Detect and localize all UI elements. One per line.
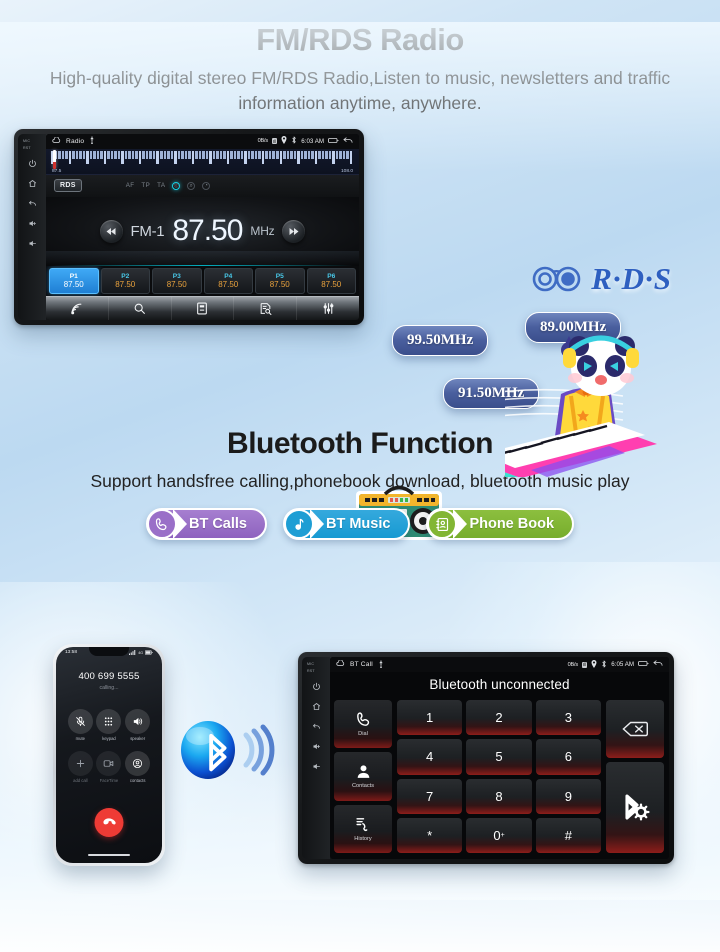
bt-tab-label: Contacts (352, 783, 374, 789)
bt-tab-label: History (354, 836, 371, 842)
frequency-bubble-1: 99.50MHz (392, 325, 488, 356)
signal-icon: Ill (582, 662, 587, 668)
pill-label: Phone Book (469, 516, 554, 532)
phone-screen: 13:58 4G 400 699 5555 calling... mute ke… (56, 647, 162, 863)
frequency-value: 87.50 (172, 214, 242, 248)
bt-tab-history[interactable]: History (334, 805, 392, 853)
reset-label: RST (23, 146, 31, 150)
preset-button[interactable]: P487.50 (204, 268, 254, 294)
reset-label: RST (307, 669, 315, 673)
bt-key-8[interactable]: 8 (466, 779, 531, 814)
preset-frequency: 87.50 (321, 280, 341, 289)
mic-label: MIC (307, 662, 314, 666)
key-label: add call (73, 778, 87, 783)
speaker-button[interactable]: speaker (125, 709, 150, 741)
usb-icon (378, 660, 384, 670)
bt-key-6[interactable]: 6 (536, 739, 601, 774)
preset-name: P6 (327, 273, 335, 280)
equalizer-icon[interactable] (297, 297, 359, 320)
key-label: speaker (130, 736, 145, 741)
contacts-button[interactable]: contacts (125, 751, 150, 783)
speaker-icon (125, 709, 150, 734)
back-icon[interactable] (343, 137, 353, 146)
preset-name: P4 (224, 273, 232, 280)
bt-key-7[interactable]: 7 (397, 779, 462, 814)
home-icon[interactable] (26, 177, 39, 190)
home-indicator (88, 854, 130, 857)
power-icon[interactable] (310, 680, 323, 693)
bt-keypad: 123456789*0+# (397, 700, 601, 853)
stereo-indicator-icon[interactable]: ◎ (172, 182, 180, 190)
ta-flag[interactable]: TA (157, 182, 165, 189)
bt-key-1[interactable]: 1 (397, 700, 462, 735)
clock-icon[interactable]: ◔ (202, 182, 210, 190)
bluetooth-icon (291, 136, 297, 146)
preset-name: P1 (70, 273, 78, 280)
radio-screen: Radio 0B/s Ill 6:03 (46, 134, 359, 320)
cloud-icon (336, 660, 345, 669)
preset-button[interactable]: P687.50 (307, 268, 357, 294)
dial-cursor[interactable] (53, 150, 56, 169)
bt-app-name: BT Call (350, 661, 373, 668)
antenna-icon[interactable] (46, 297, 109, 320)
rds-button[interactable]: RDS (54, 179, 82, 192)
bt-key-5[interactable]: 5 (466, 739, 531, 774)
bt-head-unit: MIC RST (298, 652, 674, 864)
battery-icon (638, 660, 649, 669)
radio-dial[interactable]: 87.5 108.0 (46, 149, 359, 175)
bt-side-rail: MIC RST (302, 657, 330, 859)
band-label[interactable]: FM-1 (131, 223, 165, 240)
bt-key-3[interactable]: 3 (536, 700, 601, 735)
volume-up-icon[interactable] (26, 217, 39, 230)
cellular-icon (129, 650, 136, 655)
preset-button[interactable]: P587.50 (255, 268, 305, 294)
preset-row: P187.50P287.50P387.50P487.50P587.50P687.… (46, 266, 359, 296)
preset-frequency: 87.50 (64, 280, 84, 289)
radio-head-unit: MIC RST (14, 129, 364, 325)
network-speed: 0B/s (568, 662, 578, 668)
usb-icon (89, 136, 95, 146)
phone-number: 400 699 5555 (56, 671, 162, 682)
preset-button[interactable]: P387.50 (152, 268, 202, 294)
back-icon[interactable] (26, 197, 39, 210)
radio-app-name: Radio (66, 138, 84, 145)
rds-logo: R·D·S (530, 261, 672, 297)
volume-down-icon[interactable] (310, 760, 323, 773)
location-icon (591, 660, 597, 670)
volume-down-icon[interactable] (26, 237, 39, 250)
panda-musician-illustration (505, 322, 720, 477)
key-label: keypad (102, 736, 116, 741)
home-icon[interactable] (310, 700, 323, 713)
bt-statusbar: BT Call 0B/s Ill 6:05 AM (330, 657, 669, 672)
dial-min-label: 87.5 (52, 169, 61, 174)
frequency-unit: MHz (250, 224, 274, 238)
scan-list-icon[interactable] (234, 297, 297, 320)
battery-icon (145, 650, 153, 655)
bt-key-0plus[interactable]: 0+ (466, 818, 531, 853)
fm-section-subtitle: High-quality digital stereo FM/RDS Radio… (0, 66, 720, 117)
dial-max-label: 108.0 (341, 169, 353, 174)
fm-visual-block: MIC RST (0, 117, 720, 427)
pill-label: BT Calls (189, 516, 247, 532)
pill-bt-music[interactable]: BT Music (283, 508, 410, 540)
rds-row: RDS AF TP TA ◎ ⌕ ◔ (46, 175, 359, 197)
video-icon (96, 751, 121, 776)
bt-tab-label: Dial (358, 731, 368, 737)
preset-frequency: 87.50 (218, 280, 238, 289)
end-call-button[interactable] (95, 808, 124, 837)
call-history-icon (355, 816, 372, 833)
bt-tab-contacts[interactable]: Contacts (334, 752, 392, 800)
preset-name: P2 (121, 273, 129, 280)
next-station-button[interactable] (282, 220, 305, 243)
preset-button[interactable]: P187.50 (49, 268, 99, 294)
bt-tab-dial[interactable]: Dial (334, 700, 392, 748)
keypad-button[interactable]: keypad (96, 709, 121, 741)
backspace-icon (622, 721, 648, 737)
phone-notch (89, 647, 129, 656)
pill-phone-book[interactable]: Phone Book (426, 508, 574, 540)
bt-key-9[interactable]: 9 (536, 779, 601, 814)
bluetooth-icon (601, 660, 607, 670)
facetime-button[interactable]: FaceTime (96, 751, 121, 783)
preset-frequency: 87.50 (167, 280, 187, 289)
search-icon[interactable] (109, 297, 172, 320)
bt-action-column (606, 700, 664, 853)
bt-key-2[interactable]: 2 (466, 700, 531, 735)
pill-label: BT Music (326, 516, 390, 532)
phone-clock: 13:58 (65, 650, 77, 655)
cloud-icon (52, 137, 61, 146)
key-label: mute (76, 736, 85, 741)
phone-icon (355, 711, 372, 728)
battery-icon (328, 137, 339, 146)
rds-swirl-icon (530, 264, 588, 294)
radio-toolbar (46, 296, 359, 320)
location-icon (281, 136, 287, 146)
call-state-label: calling... (56, 685, 162, 691)
back-icon[interactable] (653, 660, 663, 669)
keypad-icon (96, 709, 121, 734)
bt-tab-column: Dial Contacts History (334, 700, 392, 853)
network-speed: 0B/s (258, 138, 268, 144)
bt-key-star[interactable]: * (397, 818, 462, 853)
preset-name: P3 (173, 273, 181, 280)
preset-name: P5 (276, 273, 284, 280)
af-flag[interactable]: AF (126, 182, 135, 189)
tp-flag[interactable]: TP (141, 182, 150, 189)
bluetooth-settings-button[interactable] (606, 762, 664, 853)
bt-key-hash[interactable]: # (536, 818, 601, 853)
bt-screen: BT Call 0B/s Ill 6:05 AM (330, 657, 669, 859)
bt-key-4[interactable]: 4 (397, 739, 462, 774)
call-controls-grid: mute keypad speaker add call (56, 709, 162, 783)
bluetooth-settings-icon (618, 791, 652, 825)
pill-bt-calls[interactable]: BT Calls (146, 508, 267, 540)
volume-up-icon[interactable] (310, 740, 323, 753)
phone-handset-icon (147, 509, 177, 539)
end-call-icon (102, 815, 117, 830)
bt-connection-status: Bluetooth unconnected (330, 672, 669, 696)
contacts-icon (125, 751, 150, 776)
fm-section-title: FM/RDS Radio (0, 22, 720, 58)
preset-frequency: 87.50 (270, 280, 290, 289)
key-label: FaceTime (100, 778, 118, 783)
feature-pill-row: BT Calls BT Music Phone Book (0, 508, 720, 540)
plus-icon (68, 751, 93, 776)
backspace-button[interactable] (606, 700, 664, 758)
prev-station-button[interactable] (100, 220, 123, 243)
search-icon[interactable]: ⌕ (187, 182, 195, 190)
mic-label: MIC (23, 139, 30, 143)
add-call-button[interactable]: add call (68, 751, 93, 783)
rds-logo-text: R·D·S (591, 261, 672, 297)
signal-icon: Ill (272, 138, 277, 144)
bluetooth-orb-icon (178, 719, 276, 781)
network-label: 4G (138, 651, 143, 655)
music-note-icon (284, 509, 314, 539)
bt-clock: 6:05 AM (611, 661, 634, 668)
frequency-display: FM-1 87.50 MHz (46, 197, 359, 266)
save-icon[interactable] (172, 297, 235, 320)
person-icon (355, 763, 372, 780)
mic-off-icon (68, 709, 93, 734)
back-icon[interactable] (310, 720, 323, 733)
preset-button[interactable]: P287.50 (101, 268, 151, 294)
key-label: contacts (130, 778, 146, 783)
radio-side-rail: MIC RST (18, 134, 46, 320)
preset-frequency: 87.50 (115, 280, 135, 289)
power-icon[interactable] (26, 157, 39, 170)
smartphone-mockup: 13:58 4G 400 699 5555 calling... mute ke… (53, 644, 165, 866)
mute-button[interactable]: mute (68, 709, 93, 741)
radio-statusbar: Radio 0B/s Ill 6:03 (46, 134, 359, 149)
radio-clock: 6:03 AM (301, 138, 324, 145)
